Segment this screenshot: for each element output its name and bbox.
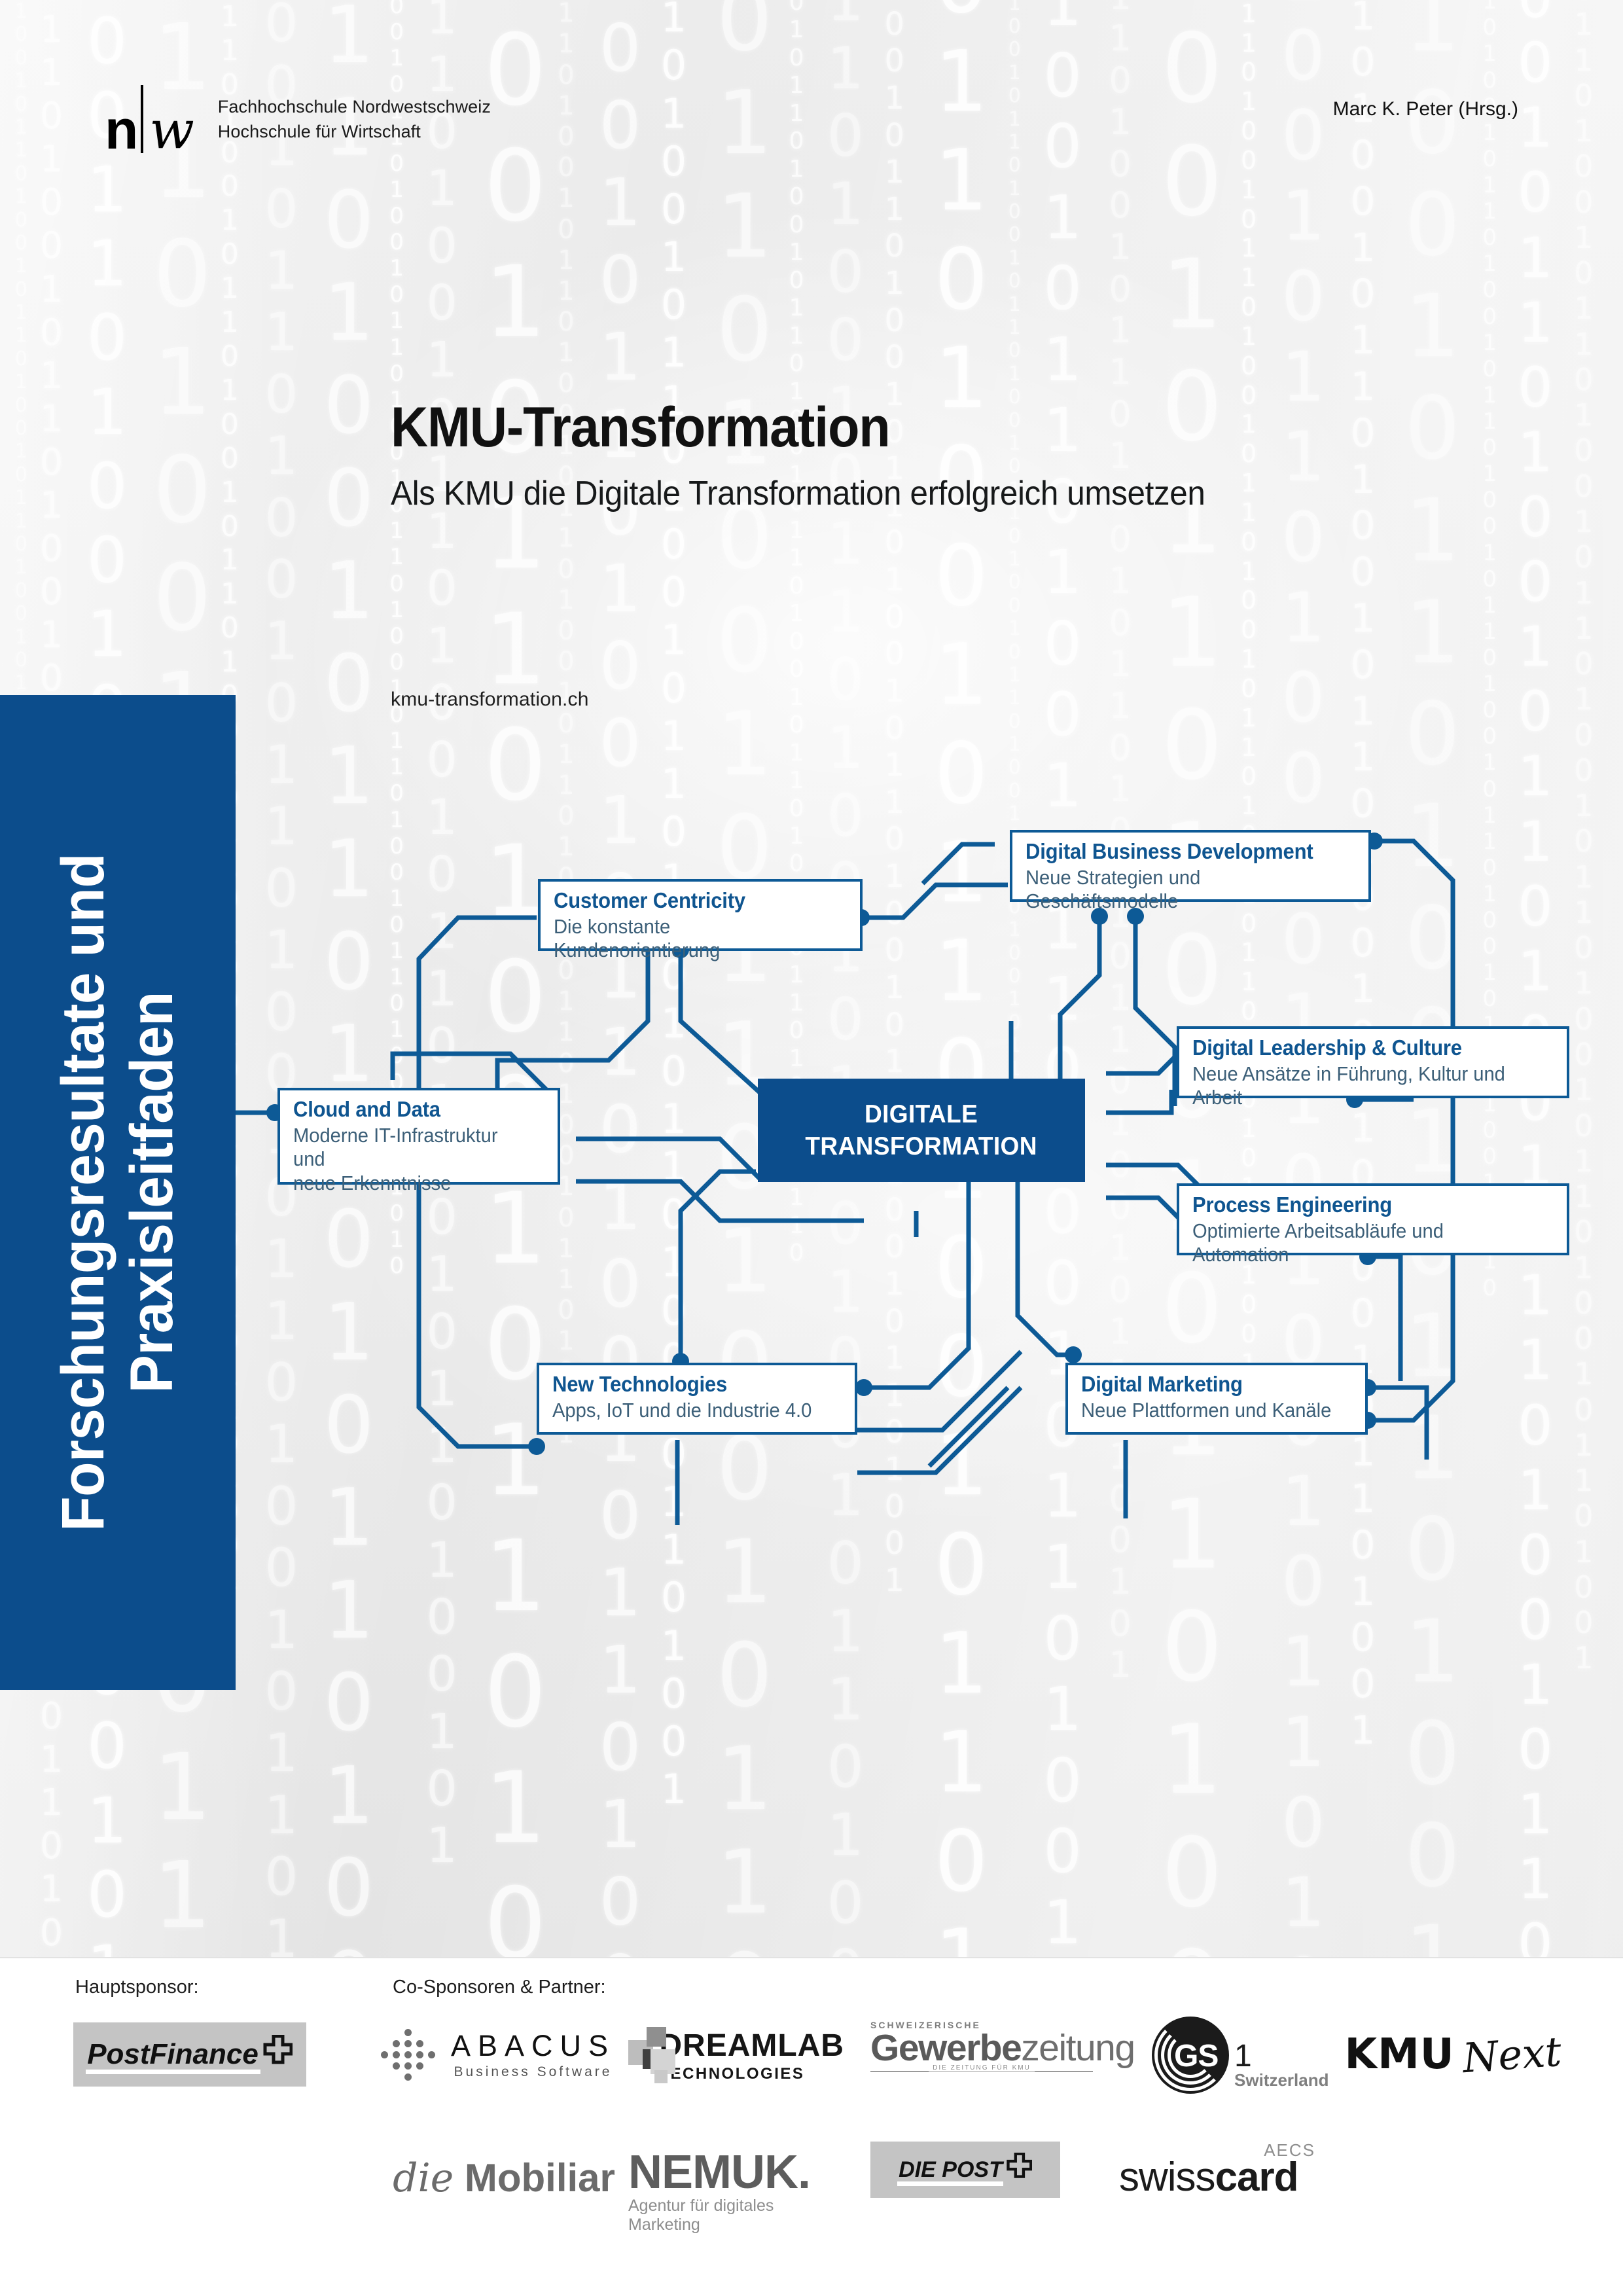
node-digital-marketing[interactable]: Digital Marketing Neue Plattformen und K… <box>1065 1363 1368 1435</box>
dreamlab-wordmark: DREAMLAB <box>659 2028 844 2064</box>
hub-label: DIGITALE TRANSFORMATION <box>806 1098 1038 1162</box>
kmu-next-next: Next <box>1461 2027 1563 2081</box>
abacus-wordmark: ABACUS <box>451 2029 615 2063</box>
digital-transformation-diagram: Customer Centricity Die konstante Kunden… <box>0 0 1623 1957</box>
node-title: Process Engineering <box>1192 1193 1533 1217</box>
logo-gewerbezeitung[interactable]: SCHWEIZERISCHE Gewerbezeitung DIE ZEITUN… <box>870 2020 1093 2088</box>
node-new-technologies[interactable]: New Technologies Apps, IoT und die Indus… <box>537 1363 857 1435</box>
hub-label-line-1: DIGITALE <box>806 1098 1038 1130</box>
gewerbezeitung-rule-text: DIE ZEITUNG FÜR KMU <box>929 2064 1035 2072</box>
node-digital-leadership-culture[interactable]: Digital Leadership & Culture Neue Ansätz… <box>1177 1026 1569 1098</box>
swisscard-wordmark: swisscard <box>1119 2154 1315 2200</box>
node-title: New Technologies <box>552 1372 825 1397</box>
dreamlab-squares-icon <box>628 2027 649 2083</box>
kmu-next-kmu: KMU <box>1344 2030 1454 2079</box>
abacus-tagline: Business Software <box>451 2064 615 2080</box>
gewerbezeitung-wordmark: Gewerbezeitung <box>870 2026 1093 2070</box>
node-title: Customer Centricity <box>554 888 830 913</box>
node-process-engineering[interactable]: Process Engineering Optimierte Arbeitsab… <box>1177 1183 1569 1255</box>
postfinance-wordmark: PostFinance <box>87 2038 259 2071</box>
swisscard-light-part: swiss <box>1119 2155 1215 2200</box>
book-cover: 1 0 0 1 0 1 1 0 1 0 0 1 0 1 1 0 1 0 0 1 … <box>0 0 1623 2296</box>
node-title: Cloud and Data <box>293 1097 531 1122</box>
co-sponsor-label: Co-Sponsoren & Partner: <box>393 1977 606 1998</box>
logo-abacus[interactable]: ABACUS Business Software <box>390 2022 606 2087</box>
node-subtitle: Neue Ansätze in Führung, Kultur und Arbe… <box>1192 1062 1533 1110</box>
node-title: Digital Marketing <box>1081 1372 1337 1397</box>
node-cloud-and-data[interactable]: Cloud and Data Moderne IT-Infrastruktur … <box>277 1088 560 1185</box>
logo-postfinance[interactable]: PostFinance <box>73 2022 306 2087</box>
mobiliar-wordmark: die Mobiliar <box>393 2155 615 2201</box>
gs1-tagline: Switzerland <box>1234 2070 1329 2090</box>
node-title: Digital Business Development <box>1026 839 1337 864</box>
logo-kmu-next[interactable]: KMU Next <box>1355 2022 1551 2087</box>
gs1-registered-icon: ® <box>1219 2019 1225 2030</box>
nemuk-wordmark: NEMUK. <box>628 2145 844 2199</box>
nemuk-tagline: Agentur für digitales Marketing <box>628 2197 844 2234</box>
gs1-circle-icon: GS ® <box>1152 2017 1229 2094</box>
node-subtitle: Neue Strategien und Geschäftsmodelle <box>1026 866 1337 914</box>
diagram-connectors <box>0 0 1623 1957</box>
swisscard-bold-part: card <box>1215 2155 1298 2200</box>
node-subtitle-line-1: Moderne IT-Infrastruktur und <box>293 1124 531 1172</box>
hub-label-line-2: TRANSFORMATION <box>806 1130 1038 1162</box>
swiss-cross-icon <box>262 2035 293 2065</box>
logo-dreamlab[interactable]: DREAMLAB TECHNOLOGIES <box>628 2022 844 2088</box>
dreamlab-tagline: TECHNOLOGIES <box>659 2065 844 2083</box>
gewerbezeitung-light-part: zeitung <box>1021 2027 1134 2069</box>
node-digitale-transformation-hub[interactable]: DIGITALE TRANSFORMATION <box>758 1079 1085 1182</box>
mobiliar-bold-part: Mobiliar <box>465 2156 615 2200</box>
node-customer-centricity[interactable]: Customer Centricity Die konstante Kunden… <box>538 879 863 951</box>
gs1-letters: GS <box>1174 2038 1218 2074</box>
swiss-cross-icon <box>1006 2153 1032 2179</box>
node-subtitle: Neue Plattformen und Kanäle <box>1081 1399 1337 1423</box>
logo-nemuk[interactable]: NEMUK. Agentur für digitales Marketing <box>628 2145 844 2211</box>
logo-gs1-switzerland[interactable]: GS ® 1 Switzerland <box>1152 2017 1335 2093</box>
node-subtitle: Apps, IoT und die Industrie 4.0 <box>552 1399 825 1423</box>
logo-die-post[interactable]: DIE POST <box>870 2142 1060 2198</box>
gewerbezeitung-rule: DIE ZEITUNG FÜR KMU <box>870 2071 1093 2072</box>
node-title: Digital Leadership & Culture <box>1192 1035 1533 1060</box>
node-subtitle-line-2: neue Erkenntnisse <box>293 1172 531 1196</box>
abacus-diamond-icon <box>381 2029 437 2081</box>
footer-divider <box>0 1957 1623 1958</box>
logo-die-mobiliar[interactable]: die Mobiliar <box>393 2147 615 2210</box>
node-subtitle: Optimierte Arbeitsabläufe und Automation <box>1192 1219 1533 1267</box>
gs1-numeral: 1 <box>1234 2038 1329 2074</box>
mobiliar-light-part: die <box>393 2155 454 2201</box>
die-post-wordmark: DIE POST <box>899 2157 1003 2183</box>
node-digital-business-development[interactable]: Digital Business Development Neue Strate… <box>1010 830 1371 902</box>
sponsor-footer: Hauptsponsor: Co-Sponsoren & Partner: Po… <box>0 1957 1623 2296</box>
main-sponsor-label: Hauptsponsor: <box>75 1977 199 1998</box>
node-subtitle: Die konstante Kundenorientierung <box>554 915 830 963</box>
logo-swisscard[interactable]: AECS swisscard <box>1119 2140 1315 2206</box>
gewerbezeitung-bold-part: Gewerbe <box>870 2027 1021 2069</box>
